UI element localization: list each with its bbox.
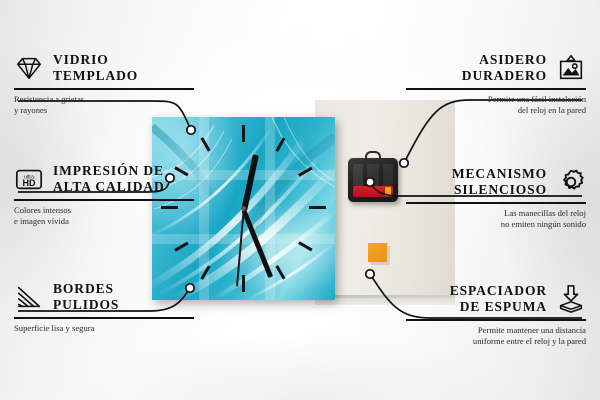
ultra-hd-icon-main-text: HD [23,179,36,189]
desc-line-1: Permite mantener una distancia [406,325,586,336]
polished-edges-icon [14,282,44,312]
feature-description: Resistencia a grietas y rayones [14,94,194,117]
feature-mecanismo-silencioso: MECANISMO SILENCIOSO Las manecillas del … [406,166,586,230]
title-line-1: ESPACIADOR [450,283,547,299]
desc-line-1: Resistencia a grietas [14,94,194,105]
feature-title: MECANISMO SILENCIOSO [452,166,547,199]
feature-title: VIDRIO TEMPLADO [53,52,138,85]
clock-mechanism [348,158,398,202]
feature-description: Permite una fácil instalación del reloj … [406,94,586,117]
feature-vidrio-templado: VIDRIO TEMPLADO Resistencia a grietas y … [14,52,194,116]
title-line-1: VIDRIO [53,52,138,68]
title-line-1: BORDES [53,281,119,297]
foam-spacer-pad [368,243,387,262]
feature-header: MECANISMO SILENCIOSO [406,166,586,199]
title-line-1: MECANISMO [452,166,547,182]
feature-title: ESPACIADOR DE ESPUMA [450,283,547,316]
feature-title: IMPRESIÓN DE ALTA CALIDAD [53,163,165,196]
feature-espaciador-espuma: ESPACIADOR DE ESPUMA Permite mantener un… [406,283,586,347]
desc-line-2: y rayones [14,105,194,116]
foam-spacer-icon [556,284,586,314]
feature-header: ESPACIADOR DE ESPUMA [406,283,586,316]
title-line-2: ALTA CALIDAD [53,179,165,195]
diamond-icon [14,53,44,83]
title-line-1: ASIDERO [462,52,547,68]
feature-description: Las manecillas del reloj no emiten ningú… [406,208,586,231]
feature-divider [14,88,194,90]
feature-header: ultra HD IMPRESIÓN DE ALTA CALIDAD [14,163,194,196]
mechanism-hanger-hook [365,151,381,160]
gear-icon [556,167,586,197]
title-line-2: DURADERO [462,68,547,84]
desc-line-2: no emiten ningún sonido [406,219,586,230]
title-line-2: TEMPLADO [53,68,138,84]
feature-divider [14,317,194,319]
feature-header: ASIDERO DURADERO [406,52,586,85]
feature-divider [406,319,586,321]
tick-3 [309,206,326,209]
mechanism-housing-detail [353,164,393,186]
hands-center-cap [241,206,246,211]
infographic-canvas: VIDRIO TEMPLADO Resistencia a grietas y … [0,0,600,400]
feature-title: BORDES PULIDOS [53,281,119,314]
hanging-frame-icon [556,53,586,83]
feature-bordes-pulidos: BORDES PULIDOS Superficie lisa y segura [14,281,194,334]
title-line-2: DE ESPUMA [450,299,547,315]
title-line-2: SILENCIOSO [452,182,547,198]
feature-description: Permite mantener una distancia uniforme … [406,325,586,348]
feature-header: BORDES PULIDOS [14,281,194,314]
feature-header: VIDRIO TEMPLADO [14,52,194,85]
feature-description: Colores intensos e imagen vívida [14,205,194,228]
feature-impresion-alta-calidad: ultra HD IMPRESIÓN DE ALTA CALIDAD Color… [14,163,194,227]
title-line-1: IMPRESIÓN DE [53,163,165,179]
ultra-hd-icon: ultra HD [14,164,44,194]
feature-divider [14,199,194,201]
tick-6 [242,275,245,292]
aa-battery [353,186,393,197]
feature-divider [406,202,586,204]
desc-line-2: e imagen vívida [14,216,194,227]
desc-line-1: Colores intensos [14,205,194,216]
desc-line-2: uniforme entre el reloj y la pared [406,336,586,347]
desc-line-1: Las manecillas del reloj [406,208,586,219]
feature-description: Superficie lisa y segura [14,323,194,334]
desc-line-2: del reloj en la pared [406,105,586,116]
desc-line-1: Superficie lisa y segura [14,323,194,334]
tick-12 [242,125,245,142]
desc-line-1: Permite una fácil instalación [406,94,586,105]
feature-asidero-duradero: ASIDERO DURADERO Permite una fácil insta… [406,52,586,116]
feature-divider [406,88,586,90]
title-line-2: PULIDOS [53,297,119,313]
feature-title: ASIDERO DURADERO [462,52,547,85]
